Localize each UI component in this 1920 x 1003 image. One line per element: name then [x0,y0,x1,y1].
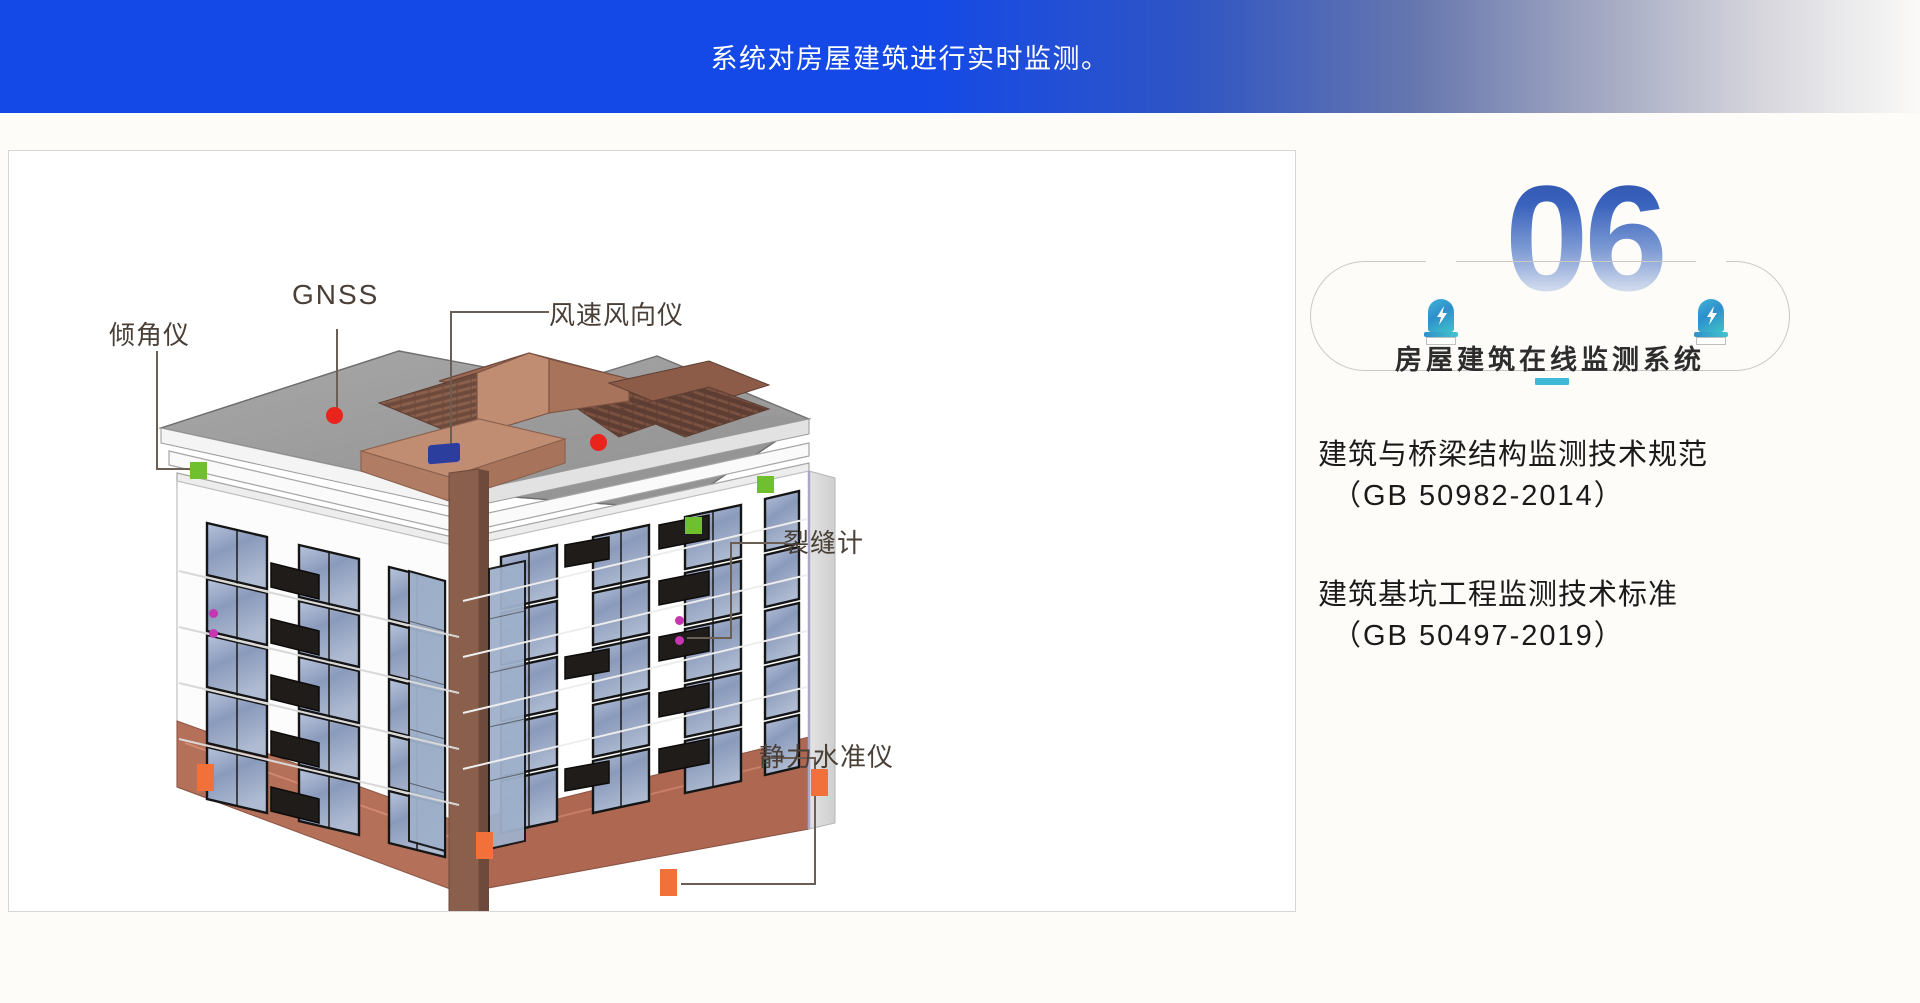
header-title: 系统对房屋建筑进行实时监测。 [0,0,1920,113]
callout-label-inclinometer: 倾角仪 [109,315,190,352]
standard-title-1: 建筑与桥梁结构监测技术规范 [1300,435,1920,476]
section-badge: 06 房屋建筑在线监测系统 [1310,163,1910,413]
sensor-marker-hydro-front [660,869,677,896]
sensor-marker-gnss-right [590,434,607,451]
capsule-gap-left [1426,259,1456,264]
sensor-marker-crack-left-a [209,609,218,618]
standard-code-1: （GB 50982-2014） [1300,476,1920,517]
badge-accent-underline [1535,378,1569,385]
callout-label-anemometer: 风速风向仪 [549,295,684,332]
sensor-marker-inclinometer-corner [685,517,702,534]
building-illustration [9,151,1296,912]
sensor-marker-crack-right-a [675,616,684,625]
sensor-marker-hydro-right [811,769,828,796]
standard-item-2: 建筑基坑工程监测技术标准 （GB 50497-2019） [1300,575,1920,657]
sensor-marker-hydro-left [197,764,214,791]
sensor-marker-hydro-mid [476,832,493,859]
diagram-panel: 倾角仪 GNSS 风速风向仪 裂缝计 静力水准仪 [8,150,1296,912]
standard-item-1: 建筑与桥梁结构监测技术规范 （GB 50982-2014） [1300,435,1920,517]
capsule-gap-right [1696,259,1726,264]
sensor-marker-crack-left-b [209,629,218,638]
slide-root: 系统对房屋建筑进行实时监测。 [0,0,1920,1003]
callout-label-gnss: GNSS [292,279,379,311]
sensor-marker-gnss-left [326,407,343,424]
right-panel: 06 房屋建筑在线监测系统 [1300,113,1920,1003]
sensor-marker-crack-right-b [675,636,684,645]
sensor-marker-anemometer [428,443,460,465]
standard-title-2: 建筑基坑工程监测技术标准 [1300,575,1920,616]
sensor-marker-inclinometer-right [757,476,774,493]
callout-label-crack-meter: 裂缝计 [783,523,864,560]
header-banner: 系统对房屋建筑进行实时监测。 [0,0,1920,113]
badge-caption: 房屋建筑在线监测系统 [1310,338,1790,377]
standard-code-2: （GB 50497-2019） [1300,616,1920,657]
sensor-marker-inclinometer-left [190,462,207,479]
